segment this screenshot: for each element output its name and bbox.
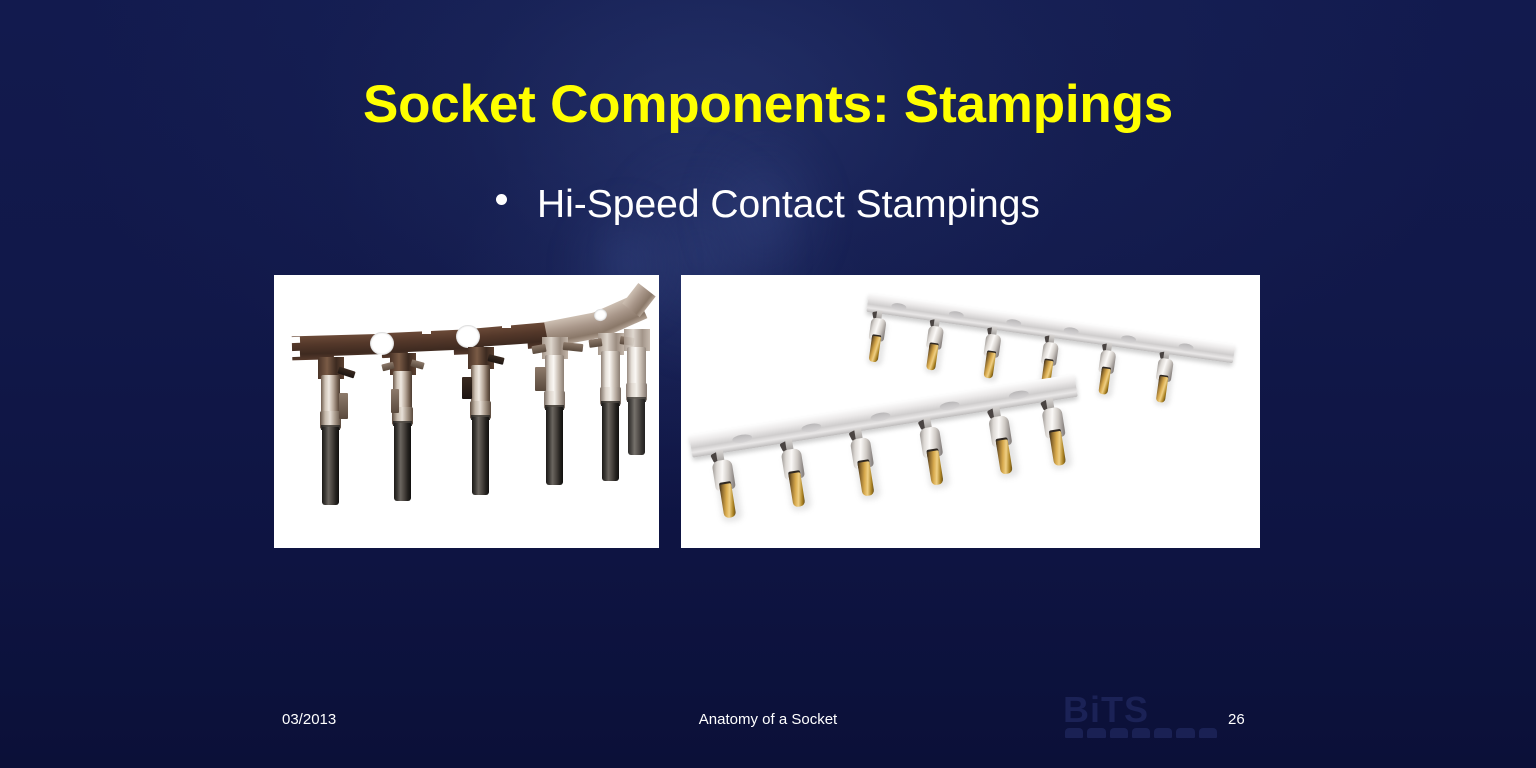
pin-contact-stamping-strip-photo <box>274 275 659 548</box>
bullet-marker-icon <box>496 194 507 205</box>
socket-contact-stamping-strips-photo <box>681 275 1260 548</box>
slide-canvas: Socket Components: Stampings Hi-Speed Co… <box>0 0 1536 768</box>
footer-title: Anatomy of a Socket <box>0 712 1536 727</box>
punched-hole <box>456 325 480 348</box>
bullet-list-item: Hi-Speed Contact Stampings <box>0 183 1536 224</box>
pin-contact <box>542 337 568 495</box>
pin-contact <box>468 347 494 497</box>
footer-page-number: 26 <box>1228 712 1245 727</box>
pin-contact <box>390 353 416 505</box>
punched-hole <box>370 332 394 355</box>
pin-contact <box>318 357 344 507</box>
bits-logo-dots <box>1065 728 1217 738</box>
bullet-item-label: Hi-Speed Contact Stampings <box>537 183 1040 226</box>
pin-contact <box>598 333 624 483</box>
page-title: Socket Components: Stampings <box>0 78 1536 131</box>
pin-contact <box>624 329 650 459</box>
